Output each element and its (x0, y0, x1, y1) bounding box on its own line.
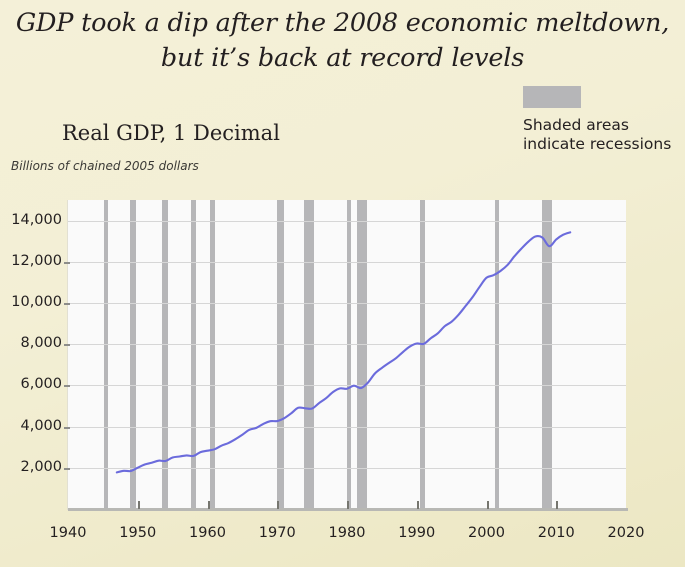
legend: Shaded areas indicate recessions (523, 86, 673, 154)
x-axis-tick-mark (556, 501, 558, 509)
chart-title: GDP took a dip after the 2008 economic m… (0, 6, 685, 76)
plot-inner (68, 200, 626, 509)
x-axis-tick-label: 1990 (387, 525, 447, 541)
y-axis-tick-label: 10,000 (4, 294, 62, 310)
x-axis-tick-label: 2020 (596, 525, 656, 541)
plot-area (68, 200, 626, 509)
y-axis-tick-mark (64, 468, 70, 470)
y-axis-tick-label: 12,000 (4, 253, 62, 269)
y-axis-tick-label: 6,000 (4, 376, 62, 392)
y-axis-tick-mark (64, 385, 70, 387)
x-axis-tick-mark (487, 501, 489, 509)
legend-label: Shaded areas indicate recessions (523, 116, 673, 154)
x-axis-tick-label: 1950 (108, 525, 168, 541)
gdp-line-series (68, 200, 626, 509)
y-axis-tick-label: 8,000 (4, 335, 62, 351)
y-axis-tick-label: 14,000 (4, 212, 62, 228)
x-axis-tick-label: 1940 (38, 525, 98, 541)
x-axis-tick-mark (417, 501, 419, 509)
series-title: Real GDP, 1 Decimal (62, 121, 280, 145)
x-axis-tick-label: 1960 (178, 525, 238, 541)
x-axis-tick-mark (277, 501, 279, 509)
x-axis-tick-mark (208, 501, 210, 509)
x-axis-tick-label: 1980 (317, 525, 377, 541)
series-units: Billions of chained 2005 dollars (11, 159, 199, 173)
x-axis-tick-mark (347, 501, 349, 509)
y-axis-labels: 2,0004,0006,0008,00010,00012,00014,000 (0, 200, 62, 509)
y-axis-tick-mark (64, 427, 70, 429)
x-axis-tick-label: 2000 (457, 525, 517, 541)
recession-swatch-icon (523, 86, 581, 108)
x-axis-tick-label: 1970 (247, 525, 307, 541)
y-axis-tick-label: 2,000 (4, 459, 62, 475)
y-axis-tick-label: 4,000 (4, 418, 62, 434)
y-axis-tick-mark (64, 262, 70, 264)
y-axis-tick-mark (64, 303, 70, 305)
x-axis-tick-label: 2010 (526, 525, 586, 541)
x-axis-tick-mark (138, 501, 140, 509)
y-axis-tick-mark (64, 344, 70, 346)
